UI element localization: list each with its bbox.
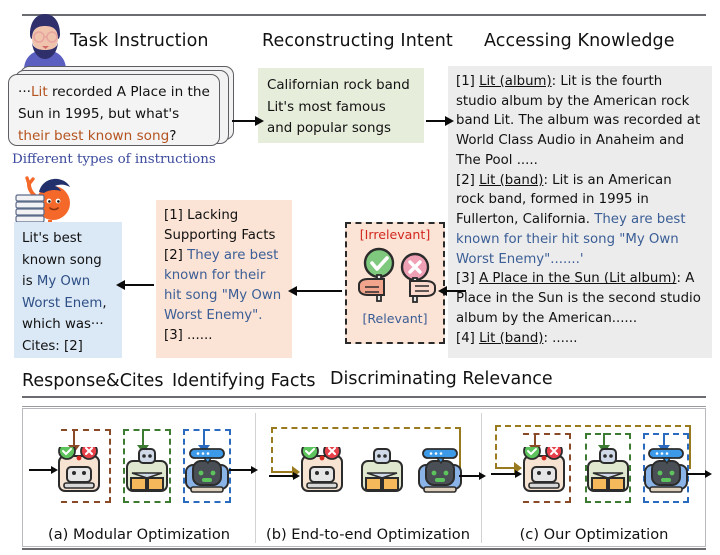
- instruction-caption: Different types of instructions: [12, 152, 216, 167]
- identified-facts-box: [1] Lacking Supporting Facts [2] They ar…: [156, 200, 292, 358]
- response-cites: Cites: [2]: [22, 336, 114, 358]
- arrow-out-modular: [229, 469, 251, 471]
- middle-rule-thin: [22, 406, 706, 407]
- fact-item-2: [2] They are best known for their hit so…: [164, 246, 284, 326]
- knowledge-entry-1: [1] Lit (album): Lit is the fourth studi…: [456, 72, 704, 171]
- agent-reading-icon: [124, 447, 170, 493]
- reconstructed-intent-text: Californian rock band Lit's most famous …: [267, 78, 410, 136]
- heading-accessing-knowledge: Accessing Knowledge: [484, 31, 675, 51]
- fact-item-3: [3] ......: [164, 326, 284, 346]
- instruction-highlight-1: Lit: [31, 84, 48, 100]
- arrow-facts-to-response: [124, 284, 154, 286]
- knowledge-index-2: [2]: [456, 173, 475, 188]
- fact-index-1: [1]: [164, 208, 183, 223]
- middle-rule: [22, 396, 706, 398]
- knowledge-entry-4: [4] Lit (band): ......: [456, 329, 704, 349]
- instruction-text-1: recorded A Place in the Sun in 1995, but…: [18, 84, 210, 122]
- agent-reading-icon: [585, 447, 631, 493]
- label-relevant: [Relevant]: [349, 311, 441, 327]
- agent-reading-icon: [359, 447, 405, 493]
- caption-ours: (c) Our Optimization: [481, 526, 707, 543]
- knowledge-title-2: Lit (band): [479, 173, 543, 188]
- instruction-card-stack: ···Lit recorded A Place in the Sun in 19…: [8, 66, 234, 146]
- label-discriminating-relevance: Discriminating Relevance: [330, 369, 553, 389]
- hands-signs-group: [349, 243, 441, 311]
- top-rule: [22, 14, 706, 16]
- agent-response-icon: [417, 447, 463, 493]
- agent-response-icon: [184, 447, 230, 493]
- reconstructed-intent-box: Californian rock band Lit's most famous …: [258, 68, 424, 143]
- label-response-cites: Response&Cites: [22, 371, 164, 391]
- instruction-highlight-2: their best known song: [18, 128, 169, 144]
- arrow-knowledge-to-discriminator: [446, 290, 466, 292]
- label-irrelevant: [Irrelevant]: [349, 227, 441, 243]
- knowledge-title-4: Lit (band): [479, 331, 543, 346]
- knowledge-index-1: [1]: [456, 74, 475, 89]
- knowledge-title-3: A Place in the Sun (Lit album): [479, 271, 676, 286]
- caption-modular: (a) Modular Optimization: [23, 526, 255, 543]
- instruction-card-front: ···Lit recorded A Place in the Sun in 19…: [8, 74, 220, 146]
- retrieved-knowledge-box: [1] Lit (album): Lit is the fourth studi…: [448, 66, 712, 358]
- caption-end-to-end: (b) End-to-end Optimization: [255, 526, 481, 543]
- label-identifying-facts: Identifying Facts: [172, 371, 315, 391]
- bottom-rule: [22, 548, 706, 550]
- figure-root: Task Instruction Reconstructing Intent A…: [0, 0, 720, 555]
- arrow-instruction-to-intent: [232, 120, 256, 122]
- agent-response-icon: [643, 447, 689, 493]
- subfigure-end-to-end: (b) End-to-end Optimization: [255, 409, 481, 548]
- relevance-discriminator-box: [Irrelevant] [Relevant]: [345, 222, 445, 344]
- arrow-in-end-to-end: [269, 475, 293, 477]
- arrow-discriminator-to-facts: [296, 290, 342, 292]
- knowledge-entry-2: [2] Lit (band): Lit is an American rock …: [456, 171, 704, 270]
- knowledge-index-4: [4]: [456, 331, 475, 346]
- arrow-in-ours: [491, 473, 515, 475]
- arrow-in-modular: [29, 469, 51, 471]
- knowledge-index-3: [3]: [456, 271, 475, 286]
- agent-relevance-icon: [299, 447, 345, 493]
- knowledge-body-4: : ......: [543, 331, 577, 346]
- arrow-intent-to-knowledge: [426, 120, 446, 122]
- optimization-comparison-panel: (a) Modular Optimization: [22, 408, 706, 547]
- fact-index-2: [2]: [164, 248, 183, 263]
- instruction-prefix: ···: [18, 84, 31, 100]
- arrow-out-end-to-end: [459, 475, 479, 477]
- heading-reconstructing-intent: Reconstructing Intent: [262, 31, 453, 51]
- knowledge-entry-3: [3] A Place in the Sun (Lit album): A Pl…: [456, 269, 704, 328]
- knowledge-title-1: Lit (album): [479, 74, 552, 89]
- user-avatar-icon: [16, 8, 74, 70]
- subfigure-ours: (c) Our Optimization: [481, 409, 707, 548]
- fact-item-1: [1] Lacking Supporting Facts: [164, 206, 284, 246]
- arrow-out-ours: [687, 473, 705, 475]
- agent-relevance-icon: [56, 447, 102, 493]
- subfigure-modular: (a) Modular Optimization: [23, 409, 255, 548]
- response-box: Lit's best known song is My Own Worst En…: [14, 222, 122, 358]
- heading-task-instruction: Task Instruction: [70, 31, 209, 51]
- instruction-text-2: ?: [169, 128, 176, 144]
- agent-relevance-icon: [521, 447, 567, 493]
